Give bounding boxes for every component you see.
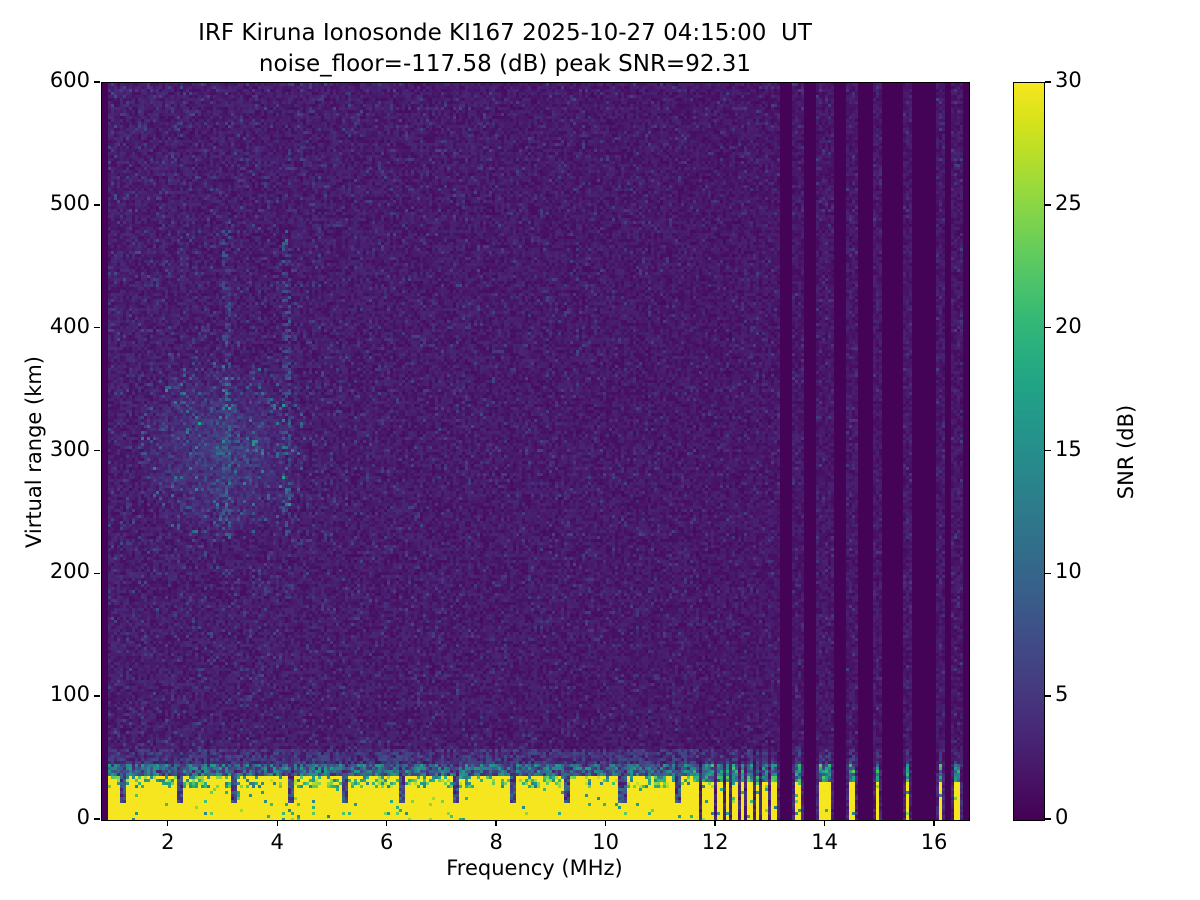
x-tick-label: 2 — [138, 830, 198, 854]
y-axis-label: Virtual range (km) — [22, 312, 46, 592]
title-line-1: IRF Kiruna Ionosonde KI167 2025-10-27 04… — [0, 18, 1010, 49]
x-tick-mark — [386, 820, 387, 826]
colorbar-tick-label: 20 — [1055, 314, 1082, 338]
x-tick-mark — [277, 820, 278, 826]
colorbar-tick-mark — [1045, 695, 1051, 696]
ionogram-figure: IRF Kiruna Ionosonde KI167 2025-10-27 04… — [0, 0, 1200, 900]
x-axis-label: Frequency (MHz) — [101, 856, 968, 880]
colorbar-gradient-canvas — [1014, 83, 1044, 820]
y-tick-label: 0 — [30, 805, 90, 829]
colorbar — [1013, 82, 1045, 821]
y-tick-label: 100 — [30, 682, 90, 706]
colorbar-tick-label: 10 — [1055, 559, 1082, 583]
ionogram-plot-area — [101, 82, 970, 821]
colorbar-tick-mark — [1045, 81, 1051, 82]
x-tick-label: 10 — [576, 830, 636, 854]
colorbar-tick-label: 30 — [1055, 68, 1082, 92]
y-tick-mark — [94, 818, 100, 819]
y-tick-mark — [94, 327, 100, 328]
colorbar-tick-label: 15 — [1055, 437, 1082, 461]
x-tick-mark — [933, 820, 934, 826]
colorbar-tick-mark — [1045, 573, 1051, 574]
x-tick-mark — [605, 820, 606, 826]
x-tick-mark — [714, 820, 715, 826]
colorbar-tick-mark — [1045, 818, 1051, 819]
x-tick-mark — [824, 820, 825, 826]
x-tick-mark — [495, 820, 496, 826]
colorbar-tick-label: 25 — [1055, 191, 1082, 215]
y-tick-label: 500 — [30, 191, 90, 215]
colorbar-tick-label: 0 — [1055, 805, 1068, 829]
ionogram-heatmap-canvas — [102, 83, 969, 820]
y-tick-mark — [94, 573, 100, 574]
y-tick-mark — [94, 81, 100, 82]
colorbar-tick-mark — [1045, 327, 1051, 328]
x-tick-label: 4 — [247, 830, 307, 854]
x-tick-label: 6 — [357, 830, 417, 854]
colorbar-tick-label: 5 — [1055, 682, 1068, 706]
x-tick-label: 8 — [466, 830, 526, 854]
y-tick-label: 600 — [30, 68, 90, 92]
colorbar-tick-mark — [1045, 450, 1051, 451]
figure-title: IRF Kiruna Ionosonde KI167 2025-10-27 04… — [0, 18, 1010, 80]
colorbar-tick-mark — [1045, 204, 1051, 205]
y-tick-mark — [94, 695, 100, 696]
title-line-2: noise_floor=-117.58 (dB) peak SNR=92.31 — [0, 49, 1010, 80]
x-tick-label: 14 — [795, 830, 855, 854]
x-tick-label: 12 — [685, 830, 745, 854]
x-tick-label: 16 — [904, 830, 964, 854]
x-tick-mark — [167, 820, 168, 826]
y-tick-mark — [94, 450, 100, 451]
colorbar-label: SNR (dB) — [1114, 312, 1138, 592]
y-tick-mark — [94, 204, 100, 205]
